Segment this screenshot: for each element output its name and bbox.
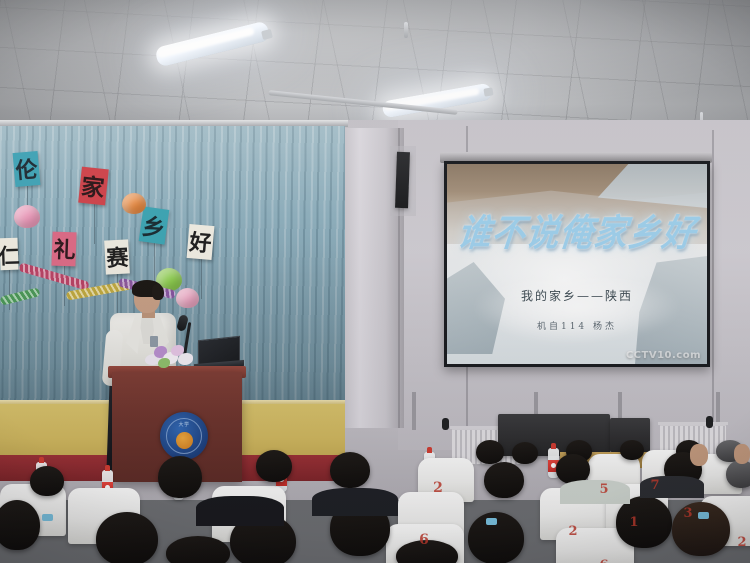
seat-number: 1	[622, 515, 646, 530]
slide-title: 谁不说俺家乡好	[447, 214, 707, 251]
flower-petal	[178, 353, 193, 365]
decoration-sign: 好	[187, 224, 215, 260]
decoration-string	[117, 274, 118, 314]
audience-head	[0, 500, 40, 550]
slide-subtitle: 我的家乡——陕西	[447, 287, 707, 304]
audience-head	[620, 440, 644, 460]
decoration-sign-char: 伦	[14, 152, 39, 185]
radiator-valve-1	[442, 418, 449, 430]
decoration-sign-char: 赛	[105, 241, 129, 274]
decoration-sign-char: 家	[80, 168, 107, 204]
radiator-valve-2	[706, 416, 713, 428]
balloon	[176, 288, 199, 308]
decoration-sign: 礼	[51, 232, 76, 267]
seat-number: 2	[426, 480, 450, 496]
audience-head	[256, 450, 292, 482]
decoration-sign: 赛	[104, 239, 130, 274]
wall-seam-2	[712, 130, 714, 430]
audience-head	[30, 466, 64, 496]
radiator-right-top	[658, 422, 728, 425]
balloon	[14, 205, 40, 228]
audience-head	[158, 456, 202, 498]
ceiling-hanger-rod	[404, 22, 408, 38]
audience-head	[330, 452, 370, 488]
audience-shoulders	[312, 488, 398, 516]
decoration-string	[64, 266, 65, 306]
decoration-sign-char: 乡	[140, 207, 168, 243]
seat-number: 6	[592, 558, 616, 563]
decoration-sign-char: 礼	[52, 233, 75, 265]
decoration-string	[201, 259, 202, 299]
decoration-string	[94, 204, 95, 244]
decoration-sign: 伦	[13, 151, 41, 187]
audience-face	[690, 444, 708, 466]
lecture-hall-photo: 伦家乡礼赛好仁 谁不说俺家乡好 我的家乡——陕西 机自114 杨杰 CCTV10…	[0, 0, 750, 563]
seat-number: 7	[643, 478, 667, 493]
audience-head	[512, 442, 538, 464]
audience-head	[726, 460, 750, 488]
decoration-sign: 乡	[139, 206, 170, 244]
decoration-string	[9, 270, 10, 310]
audience-area: 265731226	[0, 440, 750, 563]
presenter-hair-side	[152, 284, 164, 300]
wall-bracket-4	[716, 392, 720, 422]
projection-screen: 谁不说俺家乡好 我的家乡——陕西 机自114 杨杰 CCTV10.com	[444, 161, 710, 367]
seat-number: 5	[592, 482, 616, 497]
flower-leaf	[158, 358, 170, 368]
audience-shoulders	[196, 496, 284, 526]
audience-head	[476, 440, 504, 464]
balloon	[122, 193, 146, 214]
audience-head	[484, 462, 524, 498]
decoration-sign: 家	[78, 167, 109, 206]
seat-number: 2	[561, 524, 585, 539]
tube-end-cap-2	[483, 87, 493, 96]
decoration-string	[154, 243, 155, 283]
wall-speaker-icon	[395, 152, 410, 208]
hair-clip	[42, 514, 53, 521]
emblem-label: 大学	[160, 421, 208, 428]
slide-author: 机自114 杨杰	[447, 319, 707, 332]
decoration-sign-char: 好	[188, 225, 213, 258]
wall-bracket-1	[412, 392, 416, 430]
flower-arrangement	[145, 344, 195, 372]
decoration-sign: 仁	[0, 238, 19, 271]
seat-number: 6	[412, 532, 436, 548]
audience-face	[734, 444, 750, 464]
audience-head	[166, 536, 230, 563]
decoration-sign-char: 仁	[0, 238, 20, 269]
seat-number: 2	[730, 535, 750, 550]
audience-head	[96, 512, 158, 563]
cctv-watermark: CCTV10.com	[626, 350, 701, 361]
hair-clip	[486, 518, 497, 525]
seat-number: 3	[676, 506, 700, 521]
